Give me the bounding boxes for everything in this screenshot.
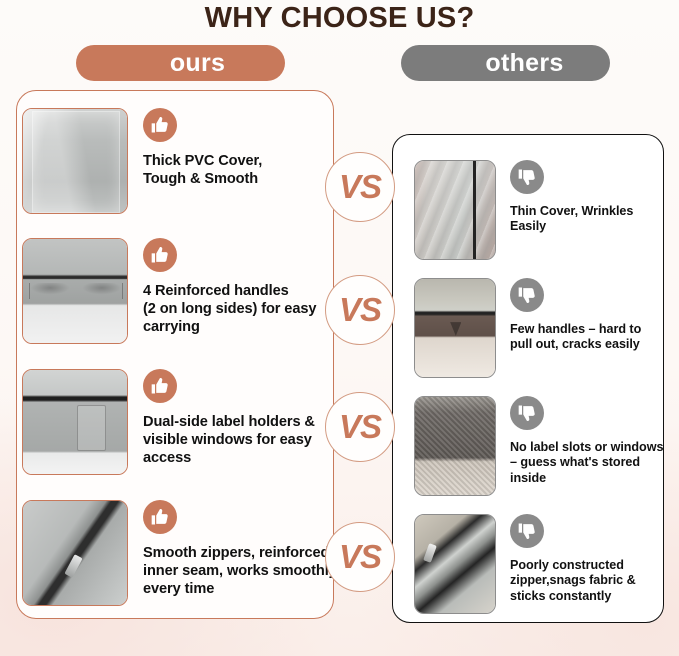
others-photo-3 (414, 396, 496, 496)
ours-feature-text-1: Thick PVC Cover, Tough & Smooth (143, 153, 333, 189)
page-title: WHY CHOOSE US? (0, 2, 679, 35)
ours-pill: ours (76, 45, 285, 81)
ours-photo-4 (22, 500, 128, 606)
others-pill: others (401, 45, 610, 81)
vs-badge-2: VS (325, 275, 395, 345)
others-row-3: No label slots or windows – guess what's… (414, 396, 664, 496)
others-photo-3-image (415, 397, 495, 495)
ours-feature-text-2: 4 Reinforced handles (2 on long sides) f… (143, 283, 333, 336)
others-row-1: Thin Cover, Wrinkles Easily (414, 160, 660, 260)
ours-photo-1 (22, 108, 128, 214)
infographic-root: WHY CHOOSE US? ours others Thick PVC Cov… (0, 0, 679, 656)
vs-badge-3: VS (325, 392, 395, 462)
vs-badge-1: VS (325, 152, 395, 222)
thumbs-down-icon (510, 514, 544, 548)
vs-badge-label: VS (339, 408, 381, 446)
vs-badge-label: VS (339, 168, 381, 206)
ours-row-3: Dual-side label holders & visible window… (22, 369, 333, 475)
ours-feature-text-4: Smooth zippers, reinforced inner seam, w… (143, 545, 339, 598)
ours-photo-4-image (23, 501, 127, 605)
ours-photo-3-image (23, 370, 127, 474)
ours-row-2: 4 Reinforced handles (2 on long sides) f… (22, 238, 333, 344)
thumbs-down-icon (510, 396, 544, 430)
vs-badge-label: VS (339, 291, 381, 329)
ours-photo-2 (22, 238, 128, 344)
others-feature-text-3: No label slots or windows – guess what's… (510, 440, 664, 486)
others-pill-label: others (485, 49, 563, 78)
ours-row-4: Smooth zippers, reinforced inner seam, w… (22, 500, 339, 606)
others-feature-text-2: Few handles – hard to pull out, cracks e… (510, 322, 660, 353)
others-photo-2 (414, 278, 496, 378)
others-feature-text-4: Poorly constructed zipper,snags fabric &… (510, 558, 660, 604)
others-photo-4-image (415, 515, 495, 613)
thumbs-down-icon (510, 160, 544, 194)
others-photo-1-image (415, 161, 495, 259)
others-photo-2-image (415, 279, 495, 377)
ours-photo-1-image (23, 109, 127, 213)
thumbs-up-icon (143, 500, 177, 534)
thumbs-up-icon (143, 238, 177, 272)
others-feature-text-1: Thin Cover, Wrinkles Easily (510, 204, 660, 235)
thumbs-up-icon (143, 108, 177, 142)
others-row-4: Poorly constructed zipper,snags fabric &… (414, 514, 660, 614)
thumbs-down-icon (510, 278, 544, 312)
thumbs-up-icon (143, 369, 177, 403)
ours-feature-text-3: Dual-side label holders & visible window… (143, 414, 333, 467)
ours-photo-2-image (23, 239, 127, 343)
ours-photo-3 (22, 369, 128, 475)
others-row-2: Few handles – hard to pull out, cracks e… (414, 278, 660, 378)
vs-badge-4: VS (325, 522, 395, 592)
ours-row-1: Thick PVC Cover, Tough & Smooth (22, 108, 333, 214)
others-photo-4 (414, 514, 496, 614)
others-photo-1 (414, 160, 496, 260)
vs-badge-label: VS (339, 538, 381, 576)
ours-pill-label: ours (170, 49, 225, 78)
